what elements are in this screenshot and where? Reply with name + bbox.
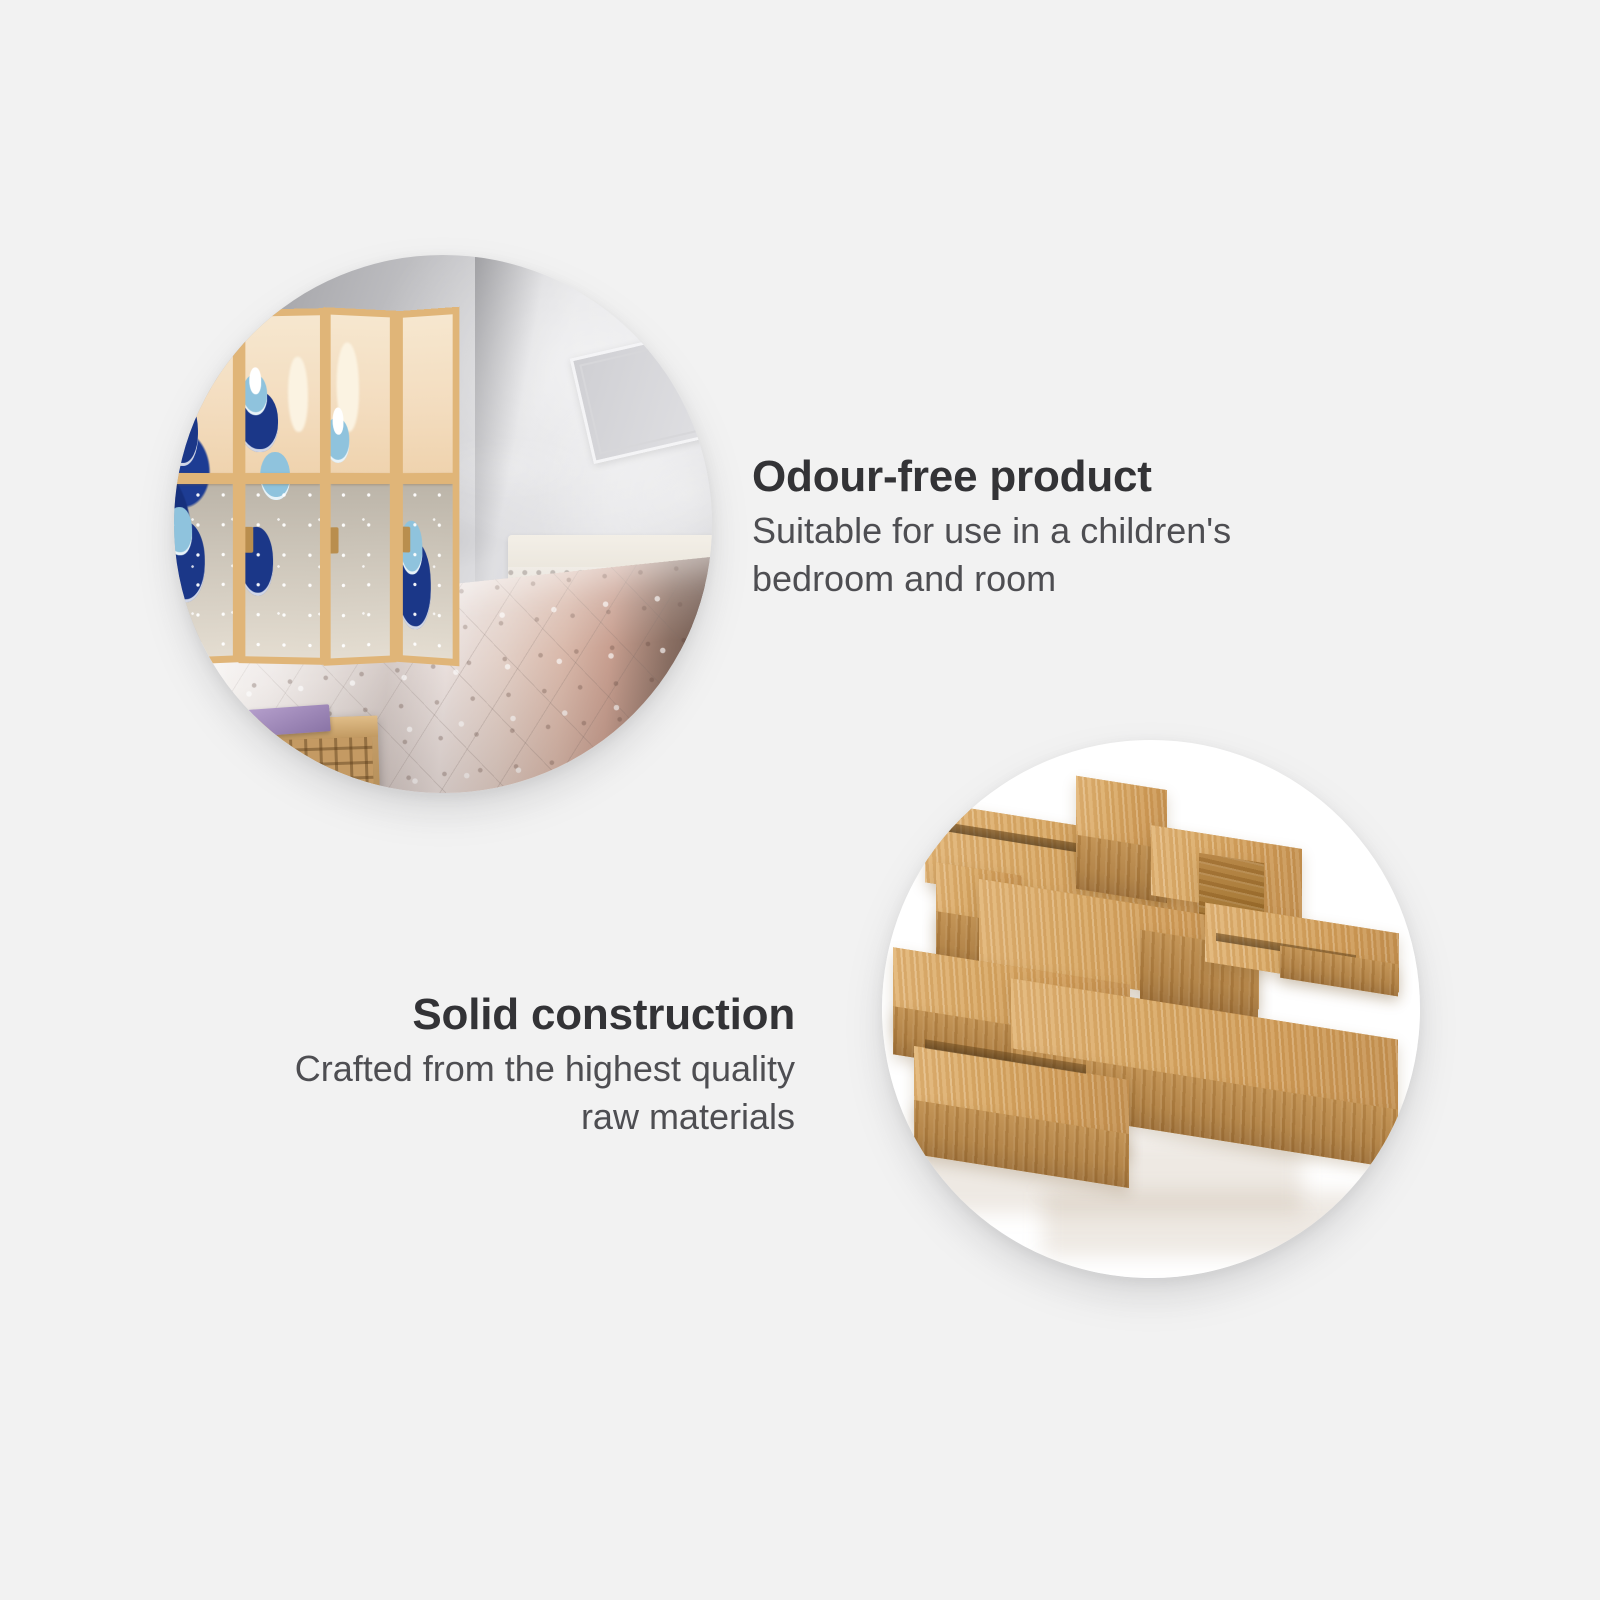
divider-panel-2 — [238, 308, 326, 665]
feature-solid-construction-subtitle: Crafted from the highest quality raw mat… — [255, 1045, 795, 1141]
divider-panel-4 — [396, 306, 459, 666]
feature-odour-free-text: Odour-free product Suitable for use in a… — [752, 452, 1272, 603]
divider-panel-3 — [324, 307, 396, 666]
stacked-timber-beams-photo — [882, 740, 1420, 1278]
marketing-feature-board: Odour-free product Suitable for use in a… — [0, 0, 1600, 1600]
feature-odour-free-subtitle: Suitable for use in a children's bedroom… — [752, 507, 1272, 603]
bedroom-scene — [174, 255, 712, 793]
feature-odour-free-title: Odour-free product — [752, 452, 1272, 501]
feature-solid-construction-title: Solid construction — [255, 990, 795, 1039]
book-on-chest — [248, 704, 330, 736]
folding-room-divider — [174, 309, 508, 664]
timber-scene — [882, 740, 1420, 1278]
bedroom-room-divider-photo — [174, 255, 712, 793]
divider-panel-1 — [174, 307, 240, 666]
feature-solid-construction-text: Solid construction Crafted from the high… — [255, 990, 795, 1141]
